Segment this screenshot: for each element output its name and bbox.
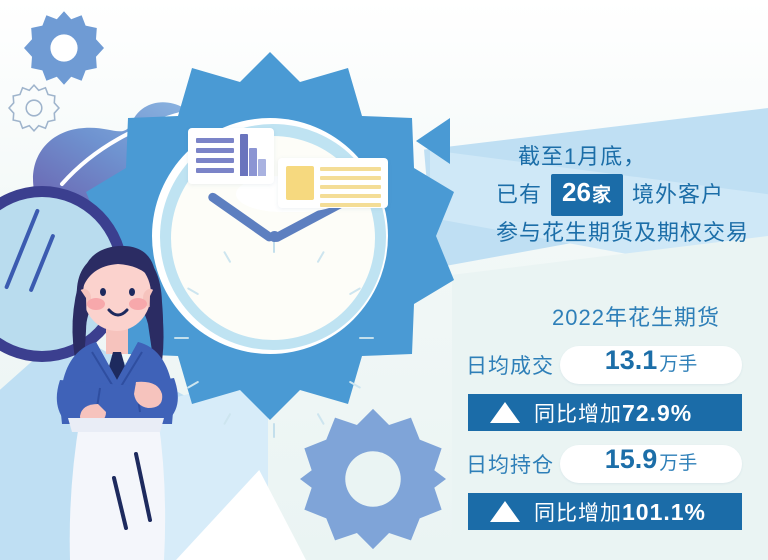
stat-label: 日均成交 xyxy=(452,350,554,380)
gear-outline-icon xyxy=(8,82,60,134)
gear-icon-top-left xyxy=(24,8,104,88)
lead-line-1: 截至1月底， xyxy=(496,140,768,174)
stat-value: 13.1 xyxy=(605,345,658,376)
bar-chart-card-icon xyxy=(188,128,274,184)
badge-unit: 家 xyxy=(592,179,612,213)
triangle-up-icon xyxy=(490,501,520,522)
stat-group-openinterest: 日均持仓 15.9 万手 同比增加101.1% xyxy=(452,445,742,530)
stat-change-text: 同比增加72.9% xyxy=(534,398,692,428)
stat-change-prefix: 同比增加 xyxy=(534,403,622,426)
badge-number: 26 xyxy=(562,175,591,209)
document-card-icon xyxy=(278,158,388,208)
triangle-up-icon xyxy=(490,402,520,423)
lead-statement: 截至1月底， 已有 26 家 境外客户 参与花生期货及期权交易 xyxy=(496,140,768,250)
stat-label: 日均持仓 xyxy=(452,449,554,479)
stats-title: 2022年花生期货 xyxy=(452,300,742,332)
stat-change-text: 同比增加101.1% xyxy=(534,497,706,527)
lead-line-2-suffix: 境外客户 xyxy=(632,178,724,212)
status-badge-count: 26 家 xyxy=(551,174,623,216)
stat-change-value: 72.9% xyxy=(622,400,692,426)
lead-line-2: 已有 26 家 境外客户 xyxy=(496,174,768,216)
infographic-canvas: 截至1月底， 已有 26 家 境外客户 参与花生期货及期权交易 2022年花生期… xyxy=(0,0,768,560)
stats-panel: 2022年花生期货 日均成交 13.1 万手 同比增加72.9% 日均持仓 xyxy=(452,300,742,530)
lead-line-2-prefix: 已有 xyxy=(496,178,542,212)
clock-center-pin xyxy=(269,231,280,242)
stat-change-bar: 同比增加101.1% xyxy=(468,493,742,530)
stat-unit: 万手 xyxy=(659,448,697,475)
stat-row: 日均成交 13.1 万手 xyxy=(452,346,742,384)
stat-value-pill: 13.1 万手 xyxy=(560,346,742,384)
stat-unit: 万手 xyxy=(659,349,697,376)
businesswoman-illustration xyxy=(8,228,208,560)
gear-icon-bottom xyxy=(300,406,446,552)
stat-change-value: 101.1% xyxy=(622,499,706,525)
stat-change-bar: 同比增加72.9% xyxy=(468,394,742,431)
stat-row: 日均持仓 15.9 万手 xyxy=(452,445,742,483)
stat-value: 15.9 xyxy=(605,444,658,475)
stat-change-prefix: 同比增加 xyxy=(534,502,622,525)
stat-group-volume: 日均成交 13.1 万手 同比增加72.9% xyxy=(452,346,742,431)
lead-line-3: 参与花生期货及期权交易 xyxy=(496,216,768,250)
stat-value-pill: 15.9 万手 xyxy=(560,445,742,483)
